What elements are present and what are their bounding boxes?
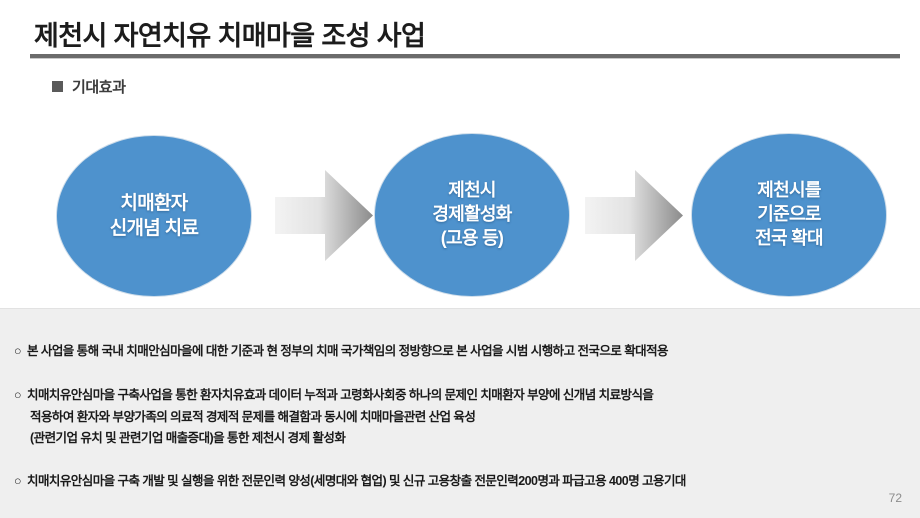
flow-step-2: 제천시 경제활성화 (고용 등)	[375, 134, 569, 296]
note-item: ○치매치유안심마을 구축 개발 및 실행을 위한 전문인력 양성(세명대와 협업…	[14, 471, 890, 493]
note-line-text: 치매치유안심마을 구축 개발 및 실행을 위한 전문인력 양성(세명대와 협업)…	[27, 474, 686, 488]
note-line: 적용하여 환자와 부양가족의 의료적 경제적 문제를 해결함과 동시에 치매마을…	[14, 407, 890, 429]
circle-bullet-icon: ○	[14, 385, 27, 407]
arrow-right-icon	[585, 168, 683, 263]
circle-bullet-icon: ○	[14, 341, 27, 363]
circle-bullet-icon: ○	[14, 471, 27, 493]
section-heading: 기대효과	[52, 76, 126, 97]
flow-step-1-label: 치매환자 신개념 치료	[110, 191, 198, 241]
note-item: ○치매치유안심마을 구축사업을 통한 환자치유효과 데이터 누적과 고령화사회중…	[14, 385, 890, 450]
flow-diagram: 치매환자 신개념 치료 제천시 경제활성화 (고용 등)	[0, 120, 920, 305]
note-item: ○본 사업을 통해 국내 치매안심마을에 대한 기준과 현 정부의 치매 국가책…	[14, 341, 890, 363]
note-line: ○치매치유안심마을 구축사업을 통한 환자치유효과 데이터 누적과 고령화사회중…	[14, 385, 890, 407]
page-number: 72	[889, 491, 902, 505]
note-line-text: 본 사업을 통해 국내 치매안심마을에 대한 기준과 현 정부의 치매 국가책임…	[27, 344, 668, 358]
note-line: ○본 사업을 통해 국내 치매안심마을에 대한 기준과 현 정부의 치매 국가책…	[14, 341, 890, 363]
flow-step-2-label: 제천시 경제활성화 (고용 등)	[432, 179, 511, 250]
section-heading-label: 기대효과	[72, 76, 126, 97]
note-line: (관련기업 유치 및 관련기업 매출증대)을 통한 제천시 경제 활성화	[14, 428, 890, 450]
arrow-right-icon	[275, 168, 373, 263]
flow-step-1: 치매환자 신개념 치료	[57, 136, 251, 296]
title-divider	[30, 54, 900, 59]
note-line-text: 치매치유안심마을 구축사업을 통한 환자치유효과 데이터 누적과 고령화사회중 …	[27, 388, 653, 402]
flow-step-3: 제천시를 기준으로 전국 확대	[692, 134, 886, 296]
note-line-text: (관련기업 유치 및 관련기업 매출증대)을 통한 제천시 경제 활성화	[30, 431, 345, 445]
notes-panel: ○본 사업을 통해 국내 치매안심마을에 대한 기준과 현 정부의 치매 국가책…	[0, 308, 920, 518]
note-line: ○치매치유안심마을 구축 개발 및 실행을 위한 전문인력 양성(세명대와 협업…	[14, 471, 890, 493]
note-line-text: 적용하여 환자와 부양가족의 의료적 경제적 문제를 해결함과 동시에 치매마을…	[30, 410, 475, 424]
square-bullet-icon	[52, 81, 63, 92]
flow-step-3-label: 제천시를 기준으로 전국 확대	[755, 179, 823, 250]
page-title: 제천시 자연치유 치매마을 조성 사업	[34, 14, 425, 53]
slide-canvas: 제천시 자연치유 치매마을 조성 사업 기대효과 치매환자 신개념 치료 제천시…	[0, 0, 920, 518]
